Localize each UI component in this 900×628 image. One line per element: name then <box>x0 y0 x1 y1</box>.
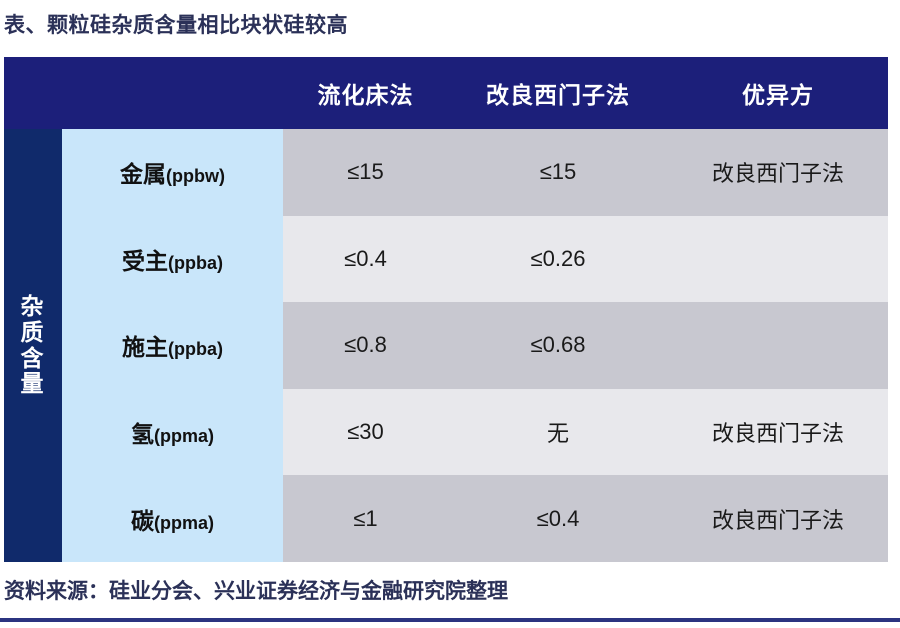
cell-value-better <box>668 302 888 389</box>
page-title: 表、颗粒硅杂质含量相比块状硅较高 <box>4 4 894 44</box>
item-name-text: 施主 <box>122 334 168 360</box>
cell-value-fbr: ≤30 <box>283 389 448 476</box>
cell-value-better <box>668 216 888 303</box>
cell-value-siemens: ≤0.4 <box>448 475 668 562</box>
footer-divider <box>0 618 900 622</box>
row-group-header-label: 杂质含量 <box>4 129 62 562</box>
cell-item-name: 受主(ppba) <box>62 216 283 303</box>
table-row: 施主(ppba)≤0.8≤0.68 <box>4 302 888 389</box>
row-group-header-char: 量 <box>21 371 46 397</box>
item-unit-text: (ppma) <box>154 426 214 446</box>
item-name-text: 氢 <box>131 421 154 447</box>
cell-value-better: 改良西门子法 <box>668 129 888 216</box>
table-header: 流化床法 改良西门子法 优异方 <box>4 57 888 129</box>
item-name-text: 金属 <box>120 161 166 187</box>
item-unit-text: (ppbw) <box>166 166 225 186</box>
cell-item-name: 碳(ppma) <box>62 475 283 562</box>
impurity-content-table: 流化床法 改良西门子法 优异方 杂质含量金属(ppbw)≤15≤15改良西门子法… <box>4 57 888 562</box>
cell-value-better: 改良西门子法 <box>668 475 888 562</box>
cell-value-fbr: ≤15 <box>283 129 448 216</box>
column-header-fbr: 流化床法 <box>283 57 448 129</box>
item-name-text: 受主 <box>122 248 168 274</box>
table-row: 杂质含量金属(ppbw)≤15≤15改良西门子法 <box>4 129 888 216</box>
table-row: 氢(ppma)≤30无改良西门子法 <box>4 389 888 476</box>
column-header-rowhead <box>4 57 62 129</box>
cell-item-name: 施主(ppba) <box>62 302 283 389</box>
item-unit-text: (ppba) <box>168 339 223 359</box>
column-header-siemens: 改良西门子法 <box>448 57 668 129</box>
source-note: 资料来源：硅业分会、兴业证券经济与金融研究院整理 <box>4 572 894 608</box>
cell-value-fbr: ≤0.8 <box>283 302 448 389</box>
cell-value-better: 改良西门子法 <box>668 389 888 476</box>
column-header-item <box>62 57 283 129</box>
cell-item-name: 氢(ppma) <box>62 389 283 476</box>
row-group-header-char: 杂 <box>21 294 46 320</box>
cell-value-fbr: ≤0.4 <box>283 216 448 303</box>
row-group-header-impurity-content: 杂质含量 <box>4 129 62 562</box>
item-name-text: 碳 <box>131 508 154 534</box>
row-group-header-char: 含 <box>21 346 46 372</box>
table-row: 受主(ppba)≤0.4≤0.26 <box>4 216 888 303</box>
table-row: 碳(ppma)≤1≤0.4改良西门子法 <box>4 475 888 562</box>
item-unit-text: (ppma) <box>154 513 214 533</box>
cell-value-fbr: ≤1 <box>283 475 448 562</box>
table-body: 杂质含量金属(ppbw)≤15≤15改良西门子法受主(ppba)≤0.4≤0.2… <box>4 129 888 562</box>
table-header-row: 流化床法 改良西门子法 优异方 <box>4 57 888 129</box>
item-unit-text: (ppba) <box>168 253 223 273</box>
cell-value-siemens: ≤0.26 <box>448 216 668 303</box>
cell-item-name: 金属(ppbw) <box>62 129 283 216</box>
cell-value-siemens: 无 <box>448 389 668 476</box>
cell-value-siemens: ≤15 <box>448 129 668 216</box>
column-header-better: 优异方 <box>668 57 888 129</box>
row-group-header-char: 质 <box>21 320 46 346</box>
cell-value-siemens: ≤0.68 <box>448 302 668 389</box>
